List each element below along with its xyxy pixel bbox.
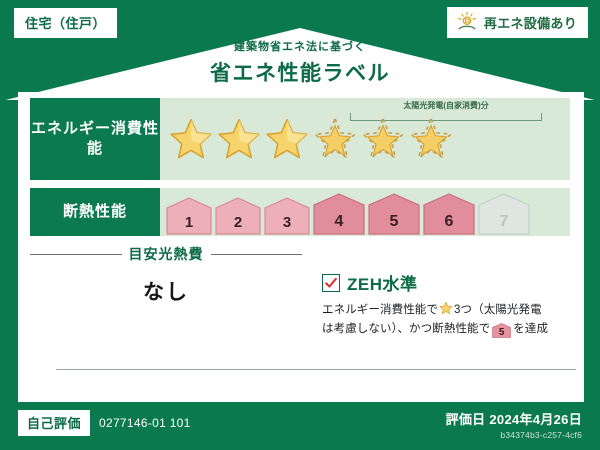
zeh-header: ZEH水準	[322, 270, 572, 295]
insulation-grade-chip: 2	[215, 197, 261, 235]
energy-performance-row: エネルギー消費性能 太陽光発電(自家消費)分	[30, 98, 570, 180]
zeh-description: エネルギー消費性能で3つ（太陽光発電は考慮しない）、かつ断熱性能で5を達成	[322, 301, 572, 338]
evaluation-date: 評価日 2024年4月26日	[446, 409, 582, 428]
check-icon	[324, 276, 338, 290]
evaluation-id: 0277146-01 101	[99, 416, 191, 430]
insulation-grade-chip: 3	[264, 197, 310, 235]
insulation-performance-body: 1 2 3 4 5	[160, 188, 570, 236]
solar-caption: 太陽光発電(自家消費)分	[348, 101, 544, 115]
insulation-grade-scale: 1 2 3 4 5	[166, 193, 530, 235]
star-icon	[216, 116, 262, 162]
utility-cost-section-title: 目安光熱費	[30, 244, 302, 264]
zeh-checkbox	[322, 274, 340, 292]
star-icon	[408, 116, 454, 162]
star-icon	[264, 116, 310, 162]
insulation-grade-chip: 7	[478, 193, 530, 235]
insulation-grade-value: 6	[445, 213, 454, 231]
insulation-grade-chip: 6	[423, 193, 475, 235]
divider-left	[30, 254, 122, 255]
energy-star-rating	[168, 116, 454, 162]
star-icon	[312, 116, 358, 162]
footer-left: 自己評価 0277146-01 101	[18, 410, 191, 436]
insulation-grade-chip: 4	[313, 193, 365, 235]
zeh-desc-part2: 3つ（太陽光発電	[454, 304, 542, 316]
star-icon	[168, 116, 214, 162]
bottom-divider	[56, 369, 576, 370]
footer-right: 評価日 2024年4月26日 b34374b3-c257-4cf6	[446, 409, 582, 440]
utility-cost-value: なし	[30, 276, 302, 306]
star-icon	[439, 301, 453, 315]
renewable-equipment-badge: 再エネ設備あり	[447, 7, 588, 38]
solar-caption-text: 太陽光発電(自家消費)分	[348, 100, 544, 111]
zeh-title: ZEH水準	[347, 270, 418, 295]
star-icon	[360, 116, 406, 162]
house-type-tag: 住宅（住戸）	[14, 8, 117, 38]
insulation-grade-value: 5	[390, 213, 399, 231]
insulation-performance-label: 断熱性能	[30, 188, 160, 236]
main-panel: エネルギー消費性能 太陽光発電(自家消費)分	[18, 92, 584, 402]
zeh-grade-chip: 5	[492, 323, 511, 338]
energy-label-card: 住宅（住戸） 再エネ設備あり 建築物省エネ法に基づく 省エネ性能ラベル エネルギ…	[0, 0, 600, 450]
zeh-grade-chip-value: 5	[499, 327, 505, 338]
evaluation-type-badge: 自己評価	[18, 410, 90, 436]
renewable-badge-label: 再エネ設備あり	[484, 13, 577, 32]
divider-right	[211, 254, 303, 255]
insulation-grade-value: 7	[500, 213, 509, 231]
zeh-desc-part1: エネルギー消費性能で	[322, 304, 438, 316]
sun-icon	[456, 11, 478, 33]
zeh-desc-part3: は考慮しない）、かつ断熱性能で	[322, 323, 490, 335]
title-block: 建築物省エネ法に基づく 省エネ性能ラベル	[0, 38, 600, 87]
insulation-grade-value: 4	[335, 213, 344, 231]
title-subtitle: 建築物省エネ法に基づく	[0, 38, 600, 54]
insulation-performance-row: 断熱性能 1 2 3	[30, 188, 570, 236]
title-main: 省エネ性能ラベル	[0, 57, 600, 87]
utility-cost-title-text: 目安光熱費	[129, 244, 204, 264]
insulation-grade-chip: 1	[166, 197, 212, 235]
evaluation-hash: b34374b3-c257-4cf6	[446, 430, 582, 440]
insulation-grade-value: 1	[185, 214, 193, 231]
insulation-grade-value: 2	[234, 214, 242, 231]
insulation-grade-value: 3	[283, 214, 291, 231]
insulation-grade-chip: 5	[368, 193, 420, 235]
zeh-desc-part4: を達成	[513, 323, 548, 335]
zeh-standard-block: ZEH水準 エネルギー消費性能で3つ（太陽光発電は考慮しない）、かつ断熱性能で5…	[322, 270, 572, 338]
energy-performance-body: 太陽光発電(自家消費)分	[160, 98, 570, 180]
energy-performance-label: エネルギー消費性能	[30, 98, 160, 180]
